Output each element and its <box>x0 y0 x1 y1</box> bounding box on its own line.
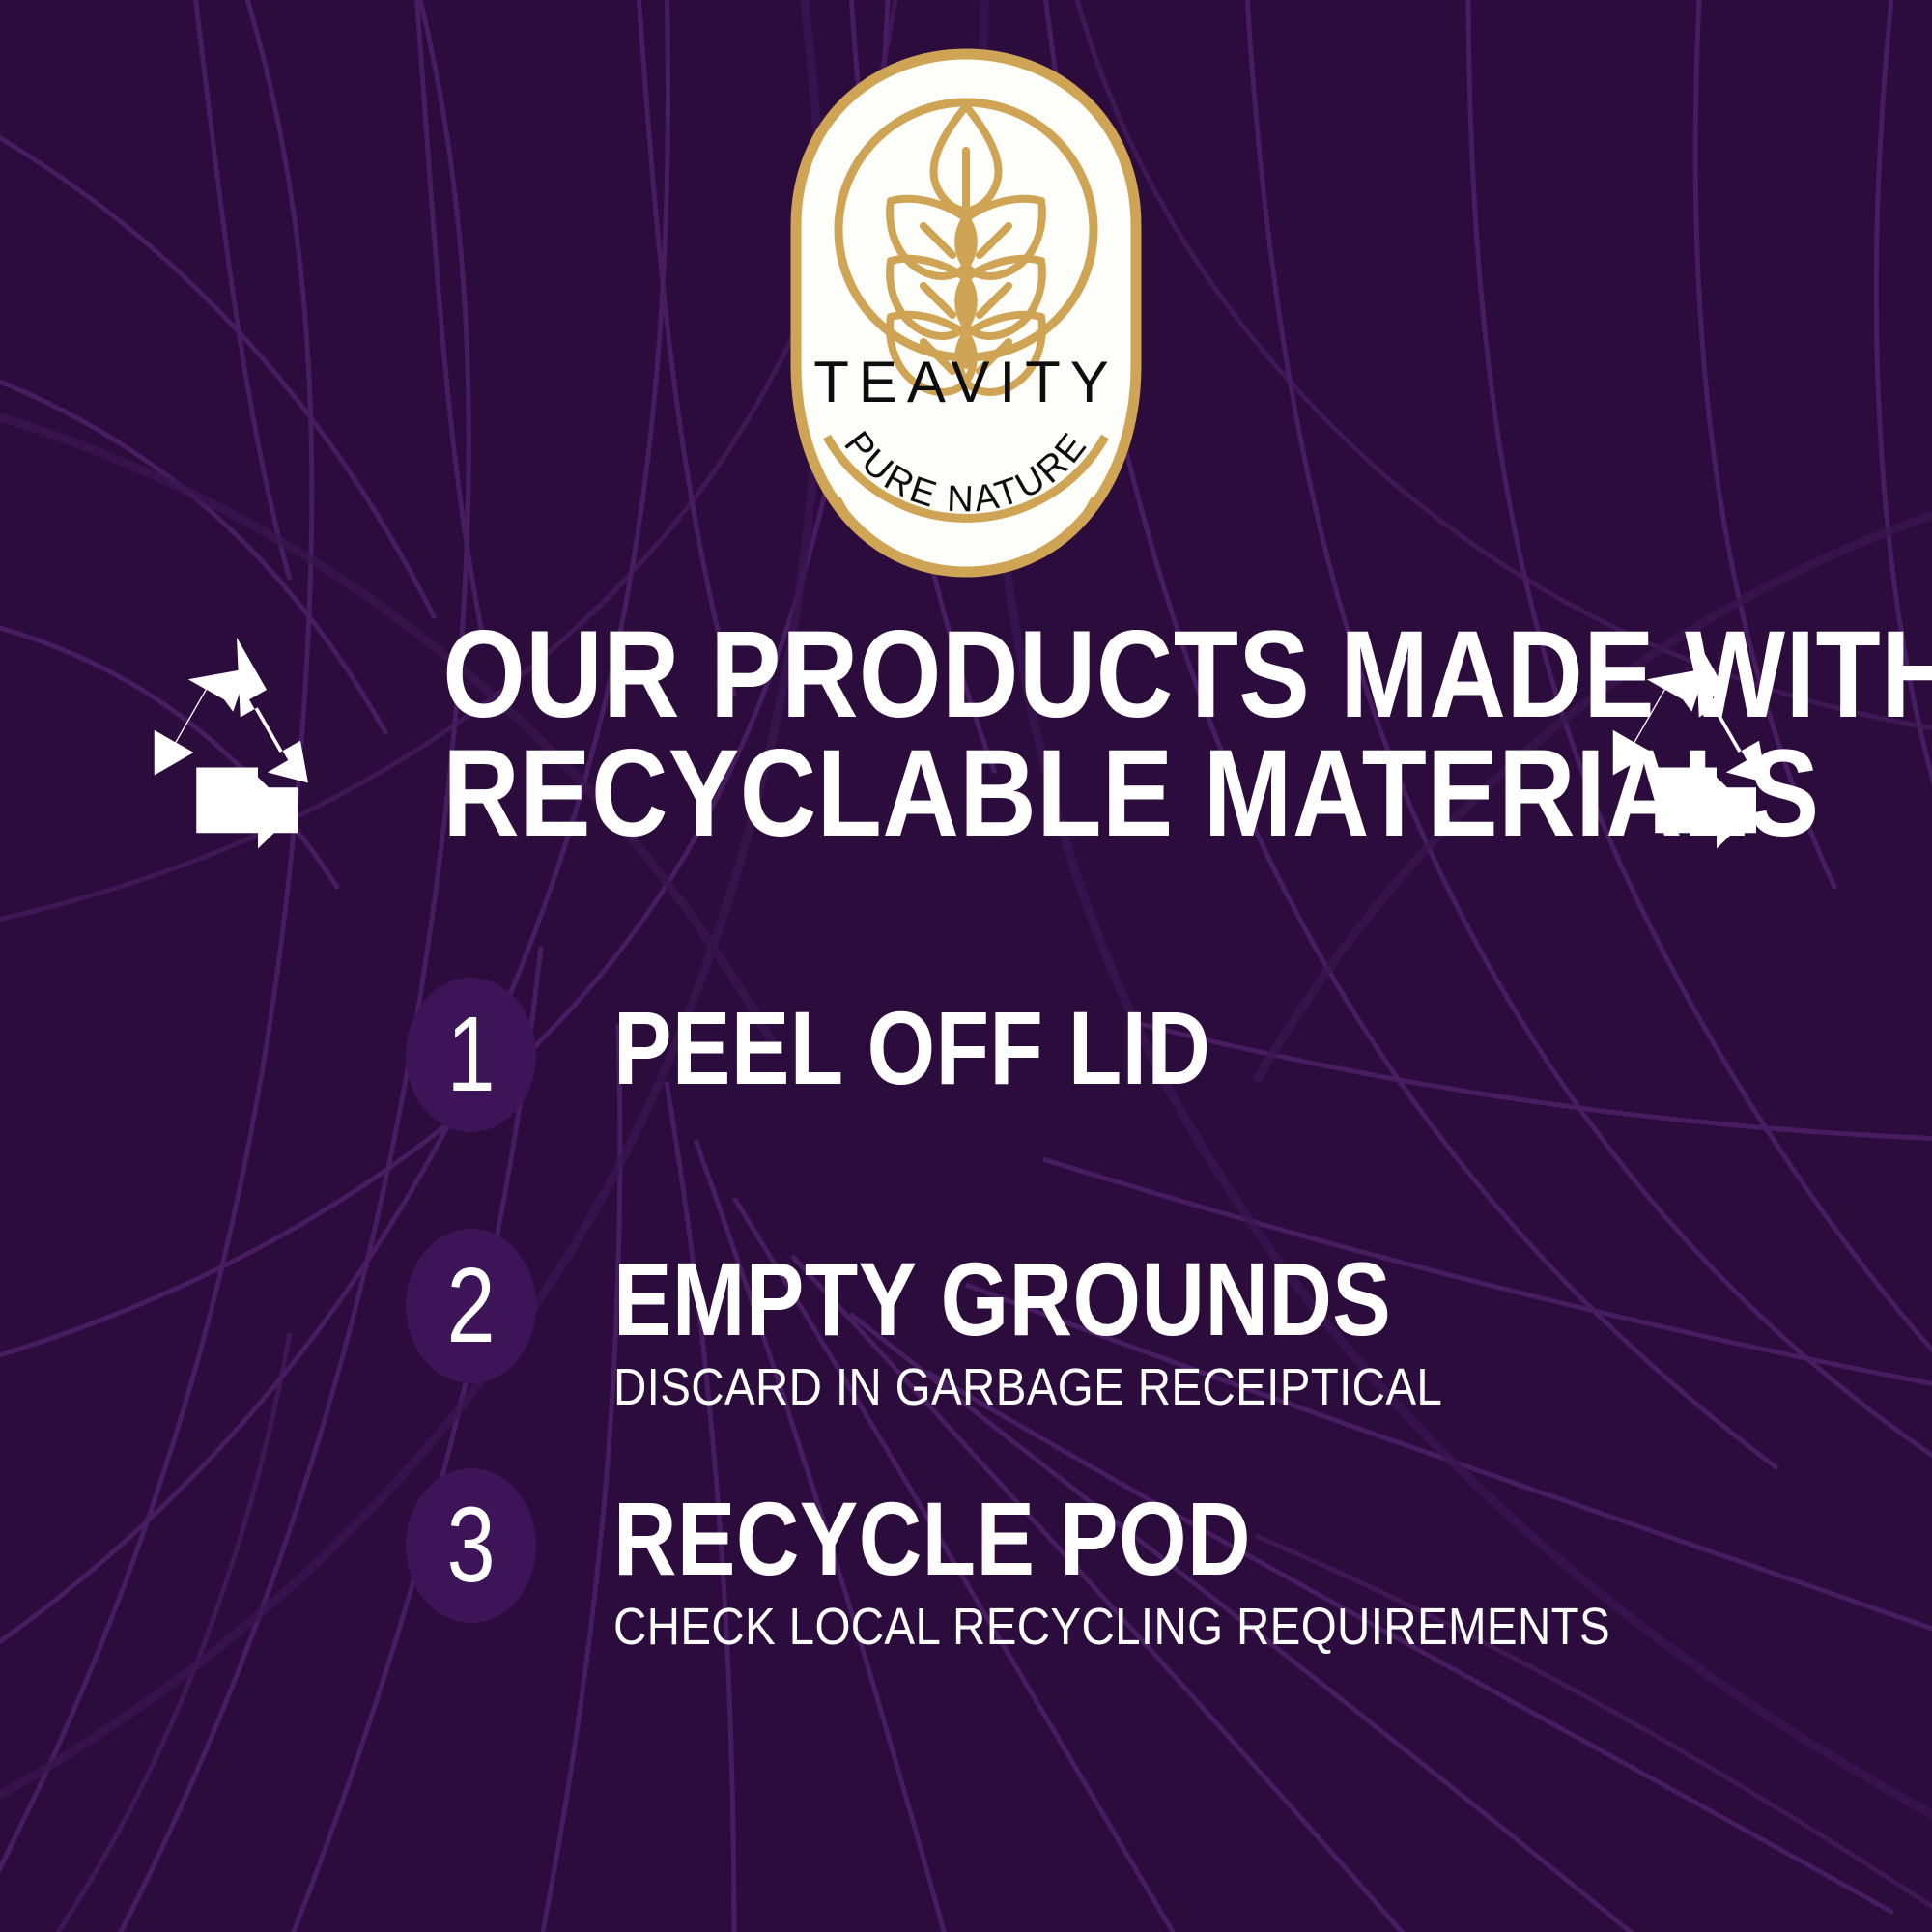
recycling-steps-list: 1 PEEL OFF LID 2 EMPTY GROUNDS DISCARD I… <box>406 995 1758 1752</box>
step-body: PEEL OFF LID <box>613 995 1324 1098</box>
step-body: EMPTY GROUNDS DISCARD IN GARBAGE RECEIPT… <box>613 1246 1555 1416</box>
poster-content: TEAVITY PURE NATURE <box>0 0 1932 1932</box>
headline-line-1: OUR PRODUCTS MADE WITH <box>442 616 1490 735</box>
recycle-icon <box>116 614 357 856</box>
step-body: RECYCLE POD CHECK LOCAL RECYCLING REQUIR… <box>613 1486 1747 1656</box>
step-number: 3 <box>446 1492 495 1599</box>
step-number: 2 <box>446 1253 495 1359</box>
step-number-badge: 2 <box>406 1229 536 1383</box>
page-title: OUR PRODUCTS MADE WITH RECYCLABLE MATERI… <box>442 616 1490 854</box>
list-item: 2 EMPTY GROUNDS DISCARD IN GARBAGE RECEI… <box>406 1246 1758 1416</box>
step-title: RECYCLE POD <box>613 1490 1565 1589</box>
headline-line-2: RECYCLABLE MATERIALS <box>442 735 1490 854</box>
logo-wordmark: TEAVITY <box>813 350 1119 414</box>
brand-logo: TEAVITY PURE NATURE <box>777 46 1155 580</box>
list-item: 1 PEEL OFF LID <box>406 995 1758 1132</box>
step-title: EMPTY GROUNDS <box>613 1250 1405 1350</box>
headline-block: OUR PRODUCTS MADE WITH RECYCLABLE MATERI… <box>0 614 1932 856</box>
step-subtitle: DISCARD IN GARBAGE RECEIPTICAL <box>613 1359 1442 1416</box>
list-item: 3 RECYCLE POD CHECK LOCAL RECYCLING REQU… <box>406 1486 1758 1656</box>
step-subtitle: CHECK LOCAL RECYCLING REQUIREMENTS <box>613 1599 1610 1656</box>
step-title: PEEL OFF LID <box>613 999 1210 1098</box>
step-number-badge: 3 <box>406 1468 536 1623</box>
step-number: 1 <box>446 1002 495 1108</box>
step-number-badge: 1 <box>406 978 536 1132</box>
